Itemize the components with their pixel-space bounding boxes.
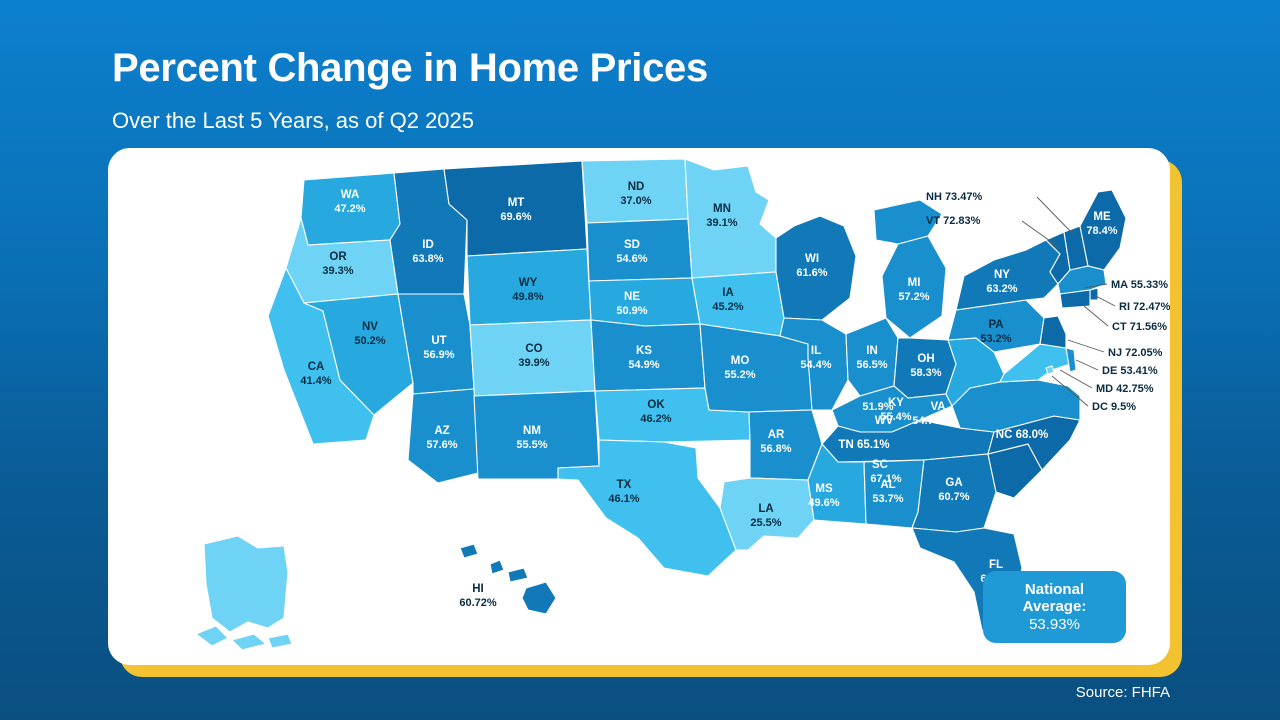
label-KS-abbr: KS [636,345,652,357]
label-KS-value: 54.9% [628,359,659,371]
label-VA-abbr: VA [930,401,945,413]
label-AZ-abbr: AZ [434,425,449,437]
label-ME-abbr: ME [1093,211,1111,223]
callout-NJ: NJ 72.05% [1108,347,1163,359]
label-LA-abbr: LA [758,503,773,515]
label-PA-value: 53.2% [980,333,1011,345]
callout-DC: DC 9.5% [1092,401,1136,413]
label-OR-value: 39.3% [322,265,353,277]
label-ID-value: 63.8% [412,253,443,265]
badge-line-2: Average: [1023,598,1087,615]
state-IN[interactable] [846,318,898,396]
callout-RI: RI 72.47% [1119,301,1170,313]
callout-VT: VT 72.83% [926,215,981,227]
label-AL-value: 53.7% [872,493,903,505]
badge-line-1: National [1025,581,1084,598]
callout-MD: MD 42.75% [1096,383,1154,395]
label-WA-abbr: WA [341,189,360,201]
label-UT-value: 56.9% [423,349,454,361]
badge-line-3: 53.93% [1029,616,1080,633]
label-NY-abbr: NY [994,269,1010,281]
label-AK-value: 38.4% [304,557,335,569]
label-WV-value: 51.9% [862,401,893,413]
label-MO-value: 55.2% [724,369,755,381]
page-subtitle: Over the Last 5 Years, as of Q2 2025 [112,108,474,134]
label-WY-abbr: WY [519,277,538,289]
state-DC[interactable] [1046,366,1054,374]
label-FL-abbr: FL [989,559,1003,571]
source-label: Source: FHFA [1076,684,1170,701]
label-WI-abbr: WI [805,253,819,265]
label-MN-value: 39.1% [706,217,737,229]
label-VA-value: 54.7% [912,415,943,427]
label-GA-value: 60.7% [938,491,969,503]
map-card: WA 47.2% OR 39.3% CA 41.4% NV 50.2% ID 6… [108,148,1170,665]
label-MS-abbr: MS [815,483,833,495]
callout-NH: NH 73.47% [926,191,982,203]
label-OK-abbr: OK [647,399,665,411]
label-OR-abbr: OR [329,251,347,263]
label-IN-abbr: IN [866,345,878,357]
label-WA-value: 47.2% [334,203,365,215]
label-MN-abbr: MN [713,203,731,215]
label-IL-value: 54.4% [800,359,831,371]
label-CA-abbr: CA [308,361,325,373]
label-AR-abbr: AR [768,429,785,441]
label-ND-abbr: ND [628,181,645,193]
state-NJ[interactable] [1040,316,1066,348]
label-SC-abbr: SC [872,459,888,471]
label-GA-abbr: GA [945,477,962,489]
label-CA-value: 41.4% [300,375,331,387]
label-TN-combined: TN 65.1% [838,439,889,451]
label-MI-abbr: MI [908,277,921,289]
label-NE-abbr: NE [624,291,640,303]
page-title: Percent Change in Home Prices [112,46,708,91]
label-WV-abbr: WV [875,415,894,427]
label-LA-value: 25.5% [750,517,781,529]
label-ME-value: 78.4% [1086,225,1117,237]
label-HI-abbr: HI [472,583,484,595]
label-AZ-value: 57.6% [426,439,457,451]
label-ND-value: 37.0% [620,195,651,207]
label-IA-value: 45.2% [712,301,743,313]
label-AK-abbr: AK [312,543,329,555]
label-NE-value: 50.9% [616,305,647,317]
label-NC-combined: NC 68.0% [996,429,1048,441]
label-TX-abbr: TX [617,479,632,491]
label-IA-abbr: IA [722,287,734,299]
label-UT-abbr: UT [431,335,446,347]
label-ID-abbr: ID [422,239,434,251]
label-SC-value: 67.1% [870,473,901,485]
label-MO-abbr: MO [731,355,750,367]
label-OK-value: 46.2% [640,413,671,425]
label-MI-value: 57.2% [898,291,929,303]
callout-CT: CT 71.56% [1112,321,1167,333]
state-NE[interactable] [589,278,700,326]
label-OH-value: 58.3% [910,367,941,379]
label-OH-abbr: OH [917,353,934,365]
callout-DE: DE 53.41% [1102,365,1158,377]
label-WI-value: 61.6% [796,267,827,279]
state-DE[interactable] [1066,348,1076,372]
label-TX-value: 46.1% [608,493,639,505]
label-NV-abbr: NV [362,321,378,333]
label-WY-value: 49.8% [512,291,543,303]
label-MS-value: 49.6% [808,497,839,509]
label-SD-value: 54.6% [616,253,647,265]
state-RI[interactable] [1090,288,1098,300]
label-SD-abbr: SD [624,239,640,251]
label-AR-value: 56.8% [760,443,791,455]
label-CO-abbr: CO [525,343,542,355]
label-HI-value: 60.72% [459,597,497,609]
label-NM-value: 55.5% [516,439,547,451]
label-NM-abbr: NM [523,425,541,437]
state-AK[interactable] [196,536,292,650]
label-PA-abbr: PA [988,319,1003,331]
state-MD[interactable] [1000,344,1070,382]
callout-MA: MA 55.33% [1111,279,1168,291]
label-IN-value: 56.5% [856,359,887,371]
label-IL-abbr: IL [811,345,821,357]
national-average-badge: National Average: 53.93% [983,571,1126,643]
label-NV-value: 50.2% [354,335,385,347]
label-NY-value: 63.2% [986,283,1017,295]
label-MT-abbr: MT [508,197,525,209]
label-MT-value: 69.6% [500,211,531,223]
label-CO-value: 39.9% [518,357,549,369]
us-choropleth-map[interactable]: WA 47.2% OR 39.3% CA 41.4% NV 50.2% ID 6… [108,148,1170,665]
